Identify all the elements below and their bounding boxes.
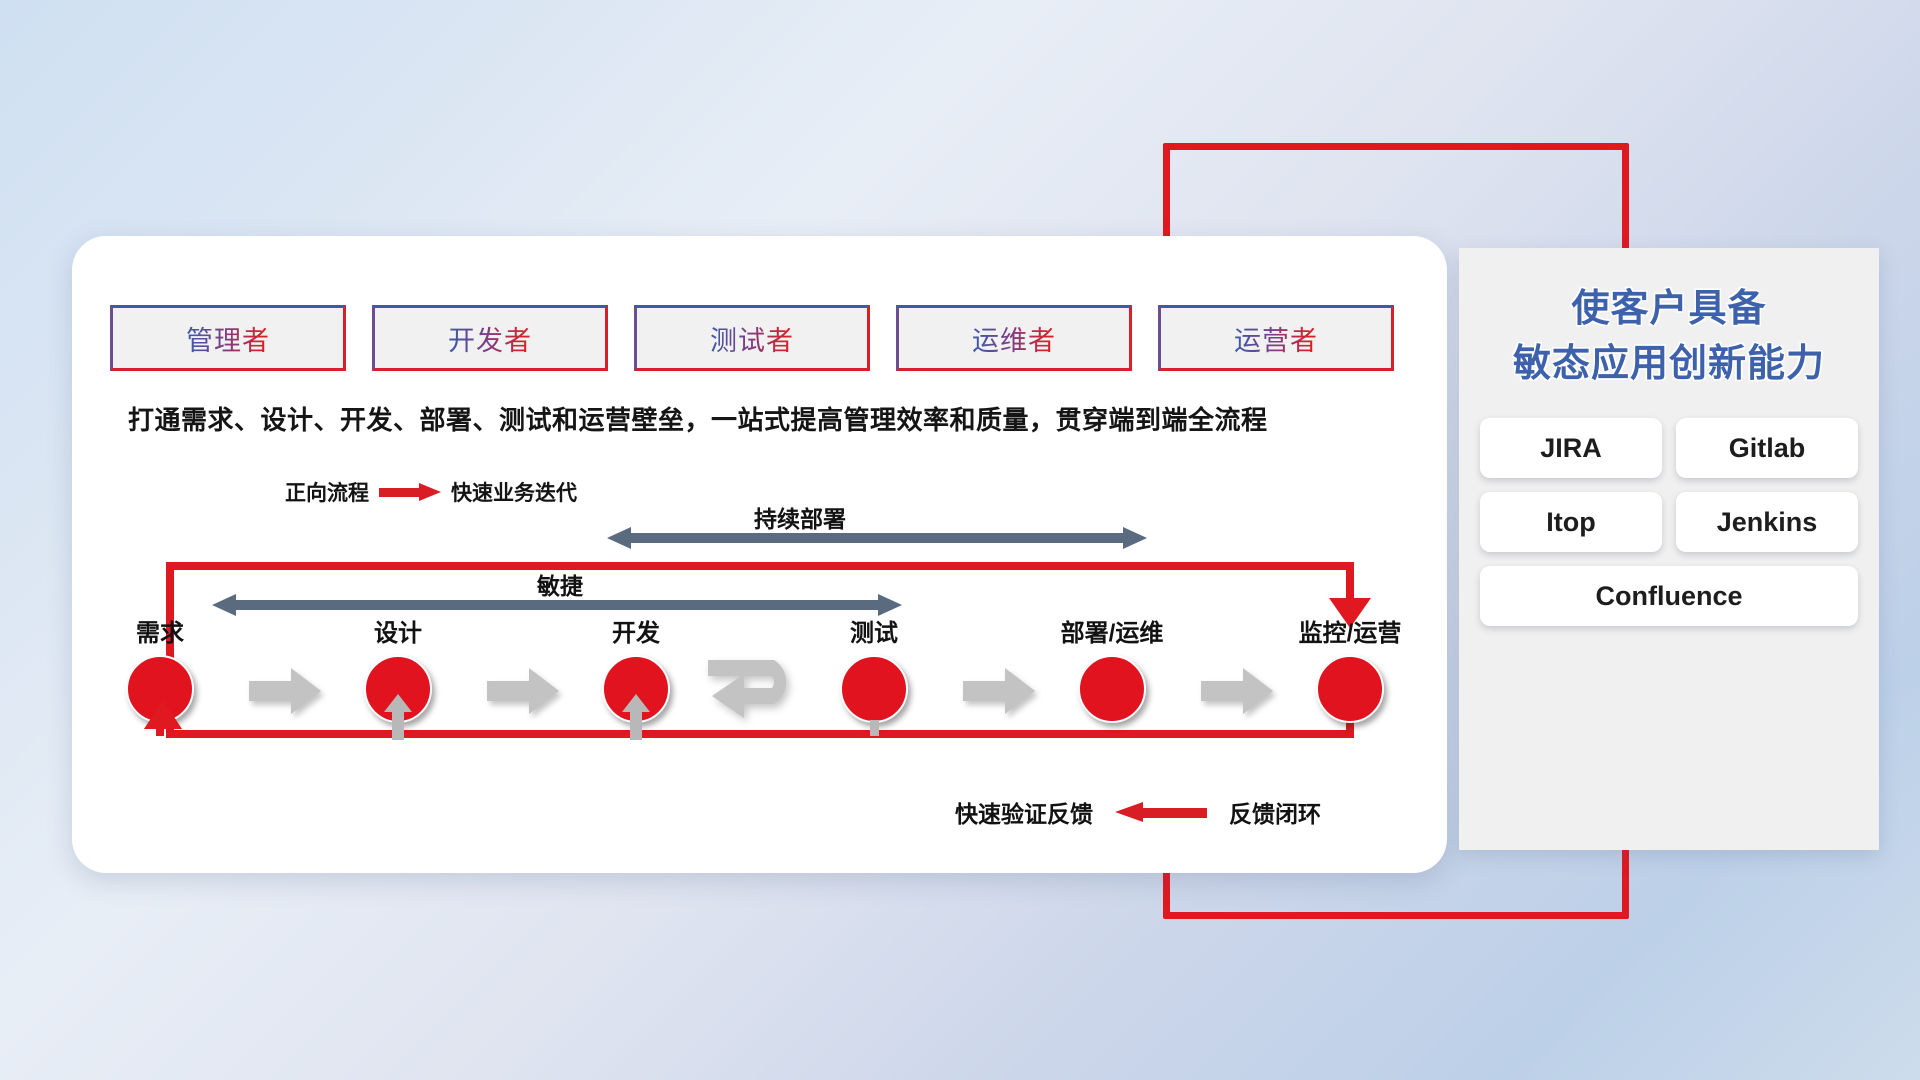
slide-canvas: 管理者 开发者 测试者 运维者 运营者 打通需求、设计、开发、部署、测试和运营壁…	[0, 0, 1920, 1080]
stage-label: 监控/运营	[1299, 613, 1402, 648]
chevron-right-icon	[963, 668, 1035, 714]
tool-itop[interactable]: Itop	[1480, 492, 1662, 552]
tool-confluence[interactable]: Confluence	[1480, 566, 1858, 626]
tool-label: Itop	[1546, 507, 1595, 538]
feedback-legend: 快速验证反馈 反馈闭环	[955, 795, 1321, 829]
panel-title: 使客户具备 敏态应用创新能力	[1459, 282, 1879, 392]
panel-title-line1: 使客户具备	[1459, 282, 1879, 337]
tool-jenkins[interactable]: Jenkins	[1676, 492, 1858, 552]
role-box-tester[interactable]: 测试者	[634, 305, 870, 371]
stage-dot	[1078, 655, 1146, 723]
gray-connector-test	[870, 720, 879, 736]
fast-validation-label: 快速验证反馈	[955, 795, 1093, 829]
tool-jira[interactable]: JIRA	[1480, 418, 1662, 478]
chevron-right-icon	[487, 668, 559, 714]
tool-label: JIRA	[1540, 433, 1602, 464]
stage-label: 需求	[136, 613, 184, 648]
role-label: 开发者	[448, 319, 532, 358]
pipeline-stage-deploy-ops[interactable]: 部署/运维	[1078, 655, 1146, 723]
stage-label: 设计	[374, 613, 422, 648]
tool-label: Confluence	[1595, 581, 1742, 612]
chevron-right-icon	[1201, 668, 1273, 714]
stage-dot	[840, 655, 908, 723]
circuit-top-line	[166, 562, 1354, 570]
role-boxes: 管理者 开发者 测试者 运维者 运营者	[110, 305, 1394, 371]
headline-text: 打通需求、设计、开发、部署、测试和运营壁垒，一站式提高管理效率和质量，贯穿端到端…	[128, 400, 1268, 437]
role-label: 管理者	[186, 319, 270, 358]
tool-gitlab[interactable]: Gitlab	[1676, 418, 1858, 478]
stage-label: 部署/运维	[1061, 613, 1164, 648]
tool-list: JIRA Gitlab Itop Jenkins Confluence	[1471, 418, 1867, 626]
circuit-right-line	[1346, 562, 1354, 603]
gray-connector-design	[392, 710, 404, 740]
chevron-right-icon	[249, 668, 321, 714]
cycle-uturn-icon	[706, 652, 818, 732]
stage-label: 测试	[850, 613, 898, 648]
gray-arrow-up-design-icon	[384, 694, 412, 712]
double-arrow-agile	[212, 594, 902, 616]
stage-dot	[1316, 655, 1384, 723]
fast-iteration-label: 快速业务迭代	[451, 477, 577, 507]
pipeline-stage-monitor-operate[interactable]: 监控/运营	[1316, 655, 1384, 723]
role-label: 测试者	[710, 319, 794, 358]
panel-title-line2: 敏态应用创新能力	[1459, 337, 1879, 392]
arrow-right-red-icon	[379, 483, 441, 501]
role-box-manager[interactable]: 管理者	[110, 305, 346, 371]
tool-label: Gitlab	[1729, 433, 1806, 464]
role-box-developer[interactable]: 开发者	[372, 305, 608, 371]
arrow-left-red-icon	[1115, 802, 1207, 822]
legend-forward-flow: 正向流程 快速业务迭代	[285, 477, 577, 507]
pipeline-stage-test[interactable]: 测试	[840, 655, 908, 723]
role-box-operations[interactable]: 运营者	[1158, 305, 1394, 371]
feedback-loop-label: 反馈闭环	[1229, 795, 1321, 829]
role-label: 运营者	[1234, 319, 1318, 358]
forward-flow-label: 正向流程	[285, 477, 369, 507]
tool-label: Jenkins	[1717, 507, 1818, 538]
red-stub-requirements	[156, 722, 164, 736]
role-label: 运维者	[972, 319, 1056, 358]
outcome-panel: 使客户具备 敏态应用创新能力 JIRA Gitlab Itop Jenkins …	[1459, 248, 1879, 850]
gray-arrow-up-develop-icon	[622, 694, 650, 712]
double-arrow-continuous-deployment	[607, 527, 1147, 549]
gray-connector-develop	[630, 710, 642, 740]
stage-label: 开发	[612, 613, 660, 648]
role-box-ops[interactable]: 运维者	[896, 305, 1132, 371]
